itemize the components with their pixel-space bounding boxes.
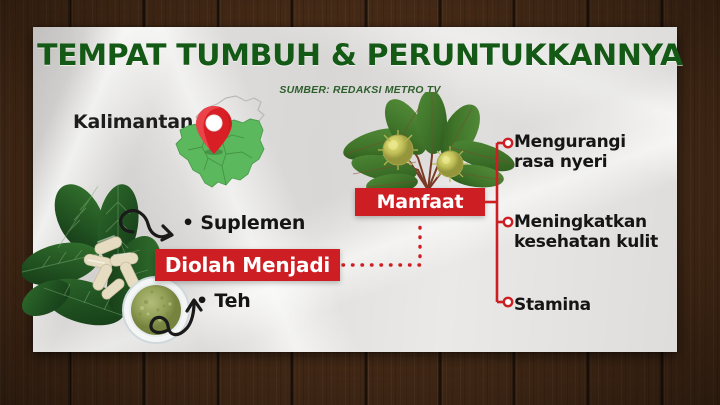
benefit-item-mengurangi-rasa-nyeri: Mengurangi rasa nyeri xyxy=(514,133,626,172)
benefit-item-meningkatkan-kesehatan-kulit: Meningkatkan kesehatan kulit xyxy=(514,213,658,252)
page-title: TEMPAT TUMBUH & PERUNTUKKANNYA xyxy=(0,38,720,72)
powder-bowl xyxy=(123,277,189,343)
list-item-teh: • Teh xyxy=(196,290,251,312)
infographic-canvas: TEMPAT TUMBUH & PERUNTUKKANNYA SUMBER: R… xyxy=(0,0,720,405)
diolah-menjadi-banner: Diolah Menjadi xyxy=(155,249,340,281)
list-item-suplemen: • Suplemen xyxy=(182,212,305,234)
benefit-item-stamina: Stamina xyxy=(514,296,591,316)
manfaat-banner: Manfaat xyxy=(355,188,485,216)
kratom-plant-with-flowers xyxy=(340,92,520,197)
